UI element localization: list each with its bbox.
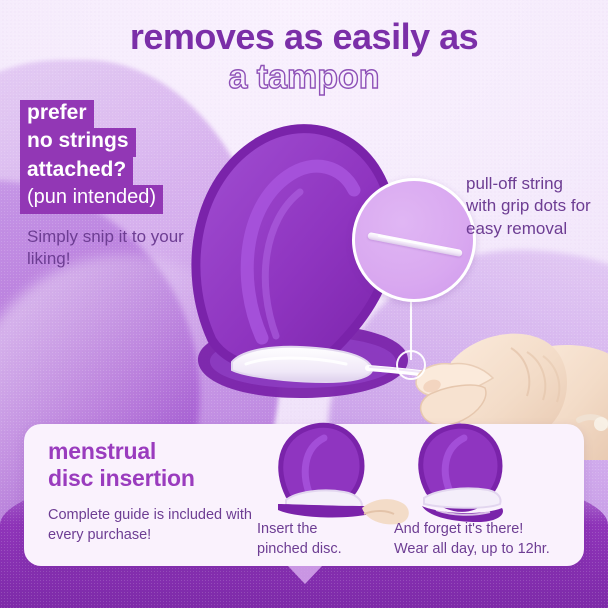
promo-infographic: removes as easily as a tampon prefer no … — [0, 0, 608, 608]
step-1-caption-line-1: Insert the — [257, 521, 317, 537]
headline-outline: a tampon — [0, 58, 608, 97]
callout-subtext: Simply snip it to your liking! — [20, 226, 210, 270]
callout-line-1: prefer — [20, 100, 94, 128]
step-1-caption: Insert the pinched disc. — [257, 520, 387, 559]
callout-pun-line: (pun intended) — [20, 185, 163, 214]
magnified-string — [367, 232, 463, 257]
headline-primary: removes as easily as — [0, 18, 608, 56]
step-2-svg — [406, 422, 536, 526]
callout-line-3: attached? — [20, 157, 133, 185]
callout-no-strings: prefer no strings attached? (pun intende… — [20, 100, 210, 270]
step-1-svg — [270, 422, 410, 526]
step-1-caption-line-2: pinched disc. — [257, 541, 342, 557]
magnifier-target-ring — [396, 350, 426, 380]
card-subtext: Complete guide is included with every pu… — [48, 506, 258, 545]
page-title: removes as easily as a tampon — [0, 18, 608, 97]
step-2-caption: And forget it's there! Wear all day, up … — [394, 520, 574, 559]
card-title-line-2: disc insertion — [48, 465, 195, 491]
chevron-down-icon — [288, 566, 322, 584]
magnifier-circle — [352, 178, 476, 302]
callout-line-2: no strings — [20, 128, 136, 156]
step-2-caption-line-2: Wear all day, up to 12hr. — [394, 541, 550, 557]
card-title: menstrual disc insertion — [48, 438, 195, 492]
step-2-illustration — [406, 422, 536, 526]
card-title-line-1: menstrual — [48, 438, 156, 464]
step-1-illustration — [270, 422, 410, 526]
annotation-pull-off-string: pull-off string with grip dots for easy … — [466, 173, 596, 240]
insertion-guide-card: menstrual disc insertion Complete guide … — [24, 424, 584, 566]
step-2-caption-line-1: And forget it's there! — [394, 521, 523, 537]
